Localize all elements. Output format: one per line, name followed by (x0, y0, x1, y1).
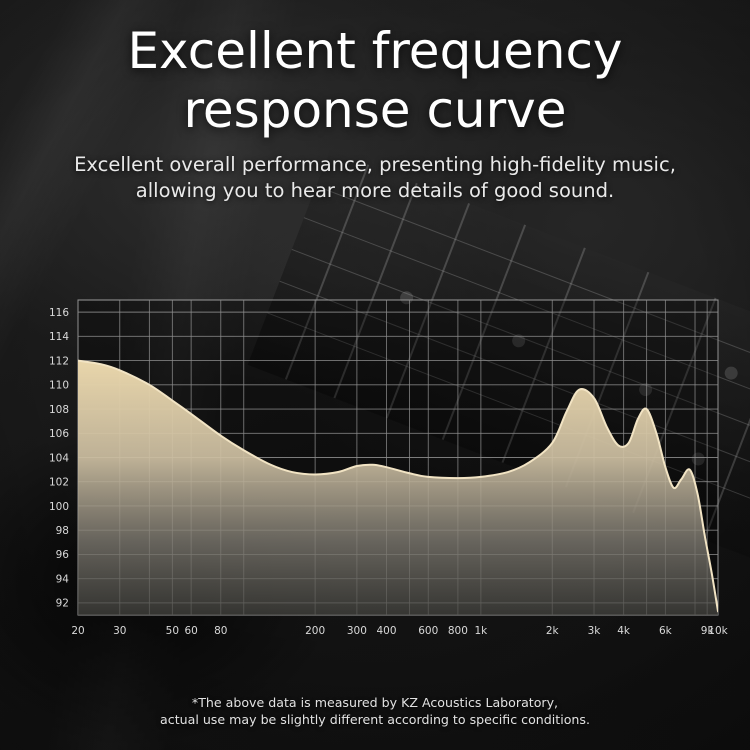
x-axis-tick-label: 300 (347, 625, 367, 637)
y-axis-tick-label: 92 (56, 598, 69, 610)
x-axis-tick-label: 10k (708, 625, 728, 637)
y-axis-tick-label: 106 (49, 428, 69, 440)
x-axis-tick-label: 400 (376, 625, 396, 637)
x-axis-tick-label: 6k (659, 625, 673, 637)
y-axis-tick-labels: 11611411211010810610410210098969492 (49, 307, 69, 610)
disclaimer-line-1: *The above data is measured by KZ Acoust… (0, 694, 750, 711)
y-axis-tick-label: 108 (49, 404, 69, 416)
y-axis-tick-label: 96 (56, 549, 70, 561)
x-axis-tick-label: 60 (184, 625, 197, 637)
page-title-line-1: Excellent frequency (0, 22, 750, 81)
y-axis-tick-label: 100 (49, 501, 69, 513)
disclaimer-note: *The above data is measured by KZ Acoust… (0, 694, 750, 728)
x-axis-tick-label: 1k (474, 625, 488, 637)
frequency-response-chart: 11611411211010810610410210098969492 2030… (0, 286, 750, 646)
y-axis-tick-label: 98 (56, 525, 69, 537)
x-axis-tick-label: 600 (418, 625, 438, 637)
x-axis-tick-label: 2k (546, 625, 560, 637)
y-axis-tick-label: 116 (49, 307, 69, 319)
page-title-line-2: response curve (0, 81, 750, 140)
x-axis-tick-label: 4k (617, 625, 631, 637)
headline-block: Excellent frequency response curve Excel… (0, 22, 750, 204)
y-axis-tick-label: 112 (49, 355, 69, 367)
x-axis-tick-label: 50 (166, 625, 179, 637)
frequency-response-plot: 11611411211010810610410210098969492 2030… (0, 286, 750, 646)
page-subtitle: Excellent overall performance, presentin… (0, 152, 750, 204)
page-subtitle-line-1: Excellent overall performance, presentin… (0, 152, 750, 178)
x-axis-tick-label: 800 (448, 625, 468, 637)
x-axis-tick-label: 20 (71, 625, 84, 637)
y-axis-tick-label: 104 (49, 452, 69, 464)
y-axis-tick-label: 94 (56, 573, 70, 585)
y-axis-tick-label: 110 (49, 380, 69, 392)
disclaimer-line-2: actual use may be slightly different acc… (0, 711, 750, 728)
x-axis-tick-label: 80 (214, 625, 227, 637)
x-axis-tick-label: 30 (113, 625, 126, 637)
page-subtitle-line-2: allowing you to hear more details of goo… (0, 178, 750, 204)
y-axis-tick-label: 102 (49, 477, 69, 489)
y-axis-tick-label: 114 (49, 331, 69, 343)
promo-page: Excellent frequency response curve Excel… (0, 0, 750, 750)
x-axis-tick-labels: 20305060802003004006008001k2k3k4k6k9k10k (71, 625, 728, 637)
x-axis-tick-label: 200 (305, 625, 325, 637)
x-axis-tick-label: 3k (588, 625, 602, 637)
